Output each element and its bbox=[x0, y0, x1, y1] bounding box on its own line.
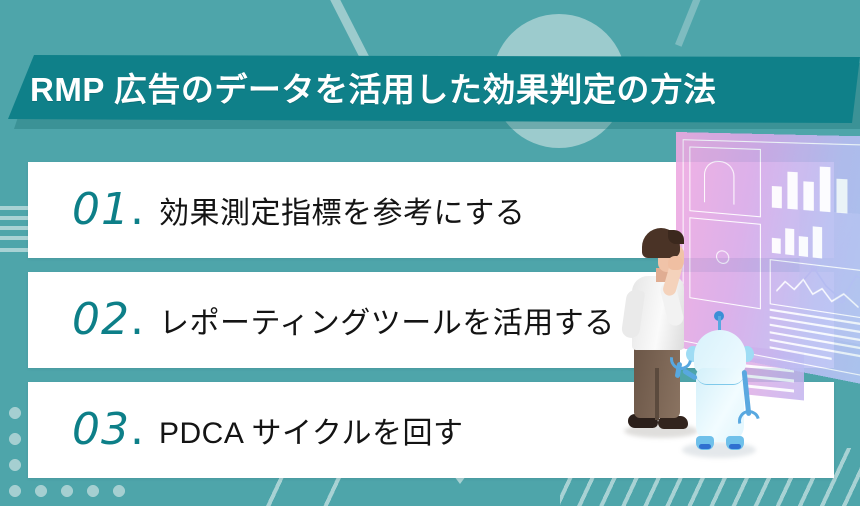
list-item-label: レポーティングツールを活用する bbox=[159, 298, 615, 342]
page-title: RMP 広告のデータを活用した効果判定の方法 bbox=[30, 73, 717, 106]
list-item-number: 02. bbox=[72, 298, 145, 342]
list-item-number-value: 02 bbox=[72, 294, 130, 345]
list-item-number-separator: . bbox=[130, 404, 145, 455]
list-item-number-value: 01 bbox=[72, 184, 130, 235]
person-silhouette-icon bbox=[689, 146, 761, 217]
list-item-number: 03. bbox=[72, 408, 145, 452]
bar-chart-icon bbox=[772, 158, 856, 214]
list-item-number-value: 03 bbox=[72, 404, 130, 455]
infographic-canvas: RMP 広告のデータを活用した効果判定の方法 01. 効果測定指標を参考にする … bbox=[0, 0, 860, 506]
friendly-robot bbox=[678, 316, 764, 460]
illustration-group bbox=[600, 120, 860, 506]
list-item-number-separator: . bbox=[130, 294, 145, 345]
person-hand bbox=[668, 256, 683, 270]
person-hair-highlight bbox=[668, 230, 684, 244]
robot-shadow bbox=[682, 442, 756, 458]
list-item-number: 01. bbox=[72, 188, 145, 232]
background-diagonal-stripe-secondary bbox=[675, 0, 711, 47]
person-leg-split bbox=[655, 368, 659, 420]
sparkline-icon bbox=[776, 272, 858, 310]
list-item-label: 効果測定指標を参考にする bbox=[159, 188, 525, 232]
title-banner: RMP 広告のデータを活用した効果判定の方法 bbox=[0, 55, 860, 127]
list-item-number-separator: . bbox=[130, 184, 145, 235]
robot-foot-right bbox=[726, 436, 744, 450]
list-item-label: PDCA サイクルを回す bbox=[159, 408, 464, 452]
robot-body-line bbox=[696, 374, 744, 385]
robot-foot-left bbox=[696, 436, 714, 450]
banner-shape: RMP 広告のデータを活用した効果判定の方法 bbox=[8, 55, 860, 123]
